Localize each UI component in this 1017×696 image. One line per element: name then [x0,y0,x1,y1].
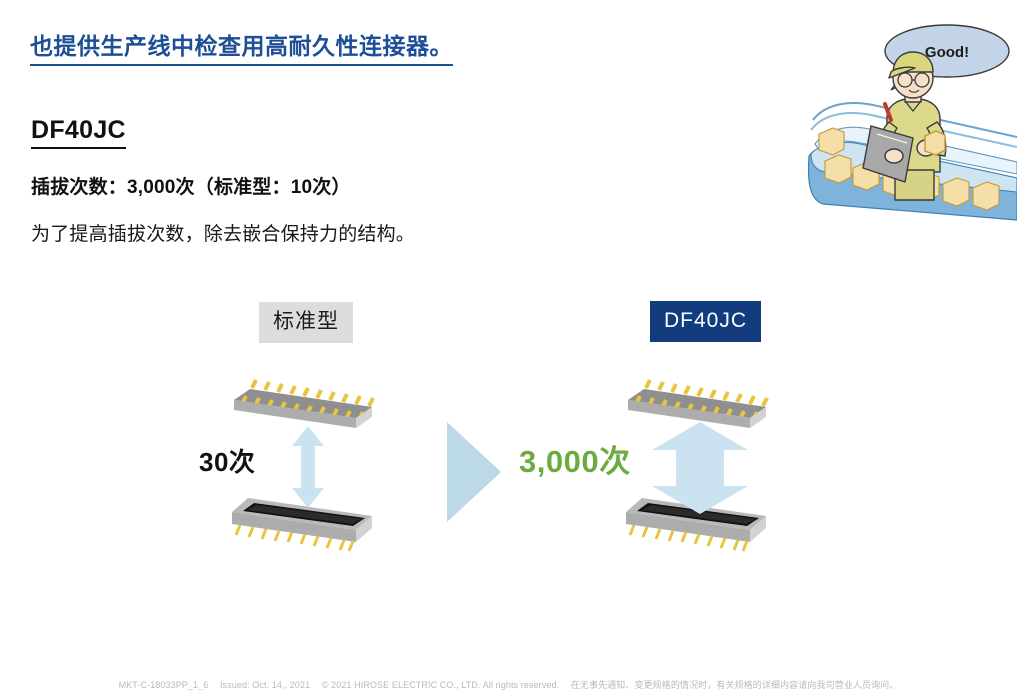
mating-arrow-df40jc [648,420,752,521]
footer-issued-date: Issued: Oct. 14,, 2021 [220,680,310,690]
page-title: 也提供生产线中检查用高耐久性连接器。 [30,27,453,66]
spec-description: 为了提高插拔次数，除去嵌合保持力的结构。 [31,219,415,246]
cycle-count-standard: 30次 [199,449,255,475]
part-number-heading: DF40JC [31,117,126,149]
mating-arrow-standard [288,424,328,515]
right-triangle-icon [443,420,503,529]
footer-doc-number: MKT-C-18033PP_1_6 [119,680,209,690]
badge-df40jc: DF40JC [650,301,761,342]
conveyor-inspection-illustration: Good! [795,4,1017,256]
footer-notice: 在无事先通知、变更规格的情况时，有关规格的详细内容请向我司营业人员询问。 [571,680,899,690]
spec-mating-cycles: 插拔次数：3,000次（标准型：10次） [31,172,351,199]
badge-standard-type: 标准型 [259,302,353,343]
footer-copyright: © 2021 HIROSE ELECTRIC CO., LTD. All rig… [322,680,559,690]
footer: MKT-C-18033PP_1_6 Issued: Oct. 14,, 2021… [0,678,1017,691]
cycle-count-df40jc: 3,000次 [519,446,631,477]
speech-bubble-text: Good! [925,44,969,61]
